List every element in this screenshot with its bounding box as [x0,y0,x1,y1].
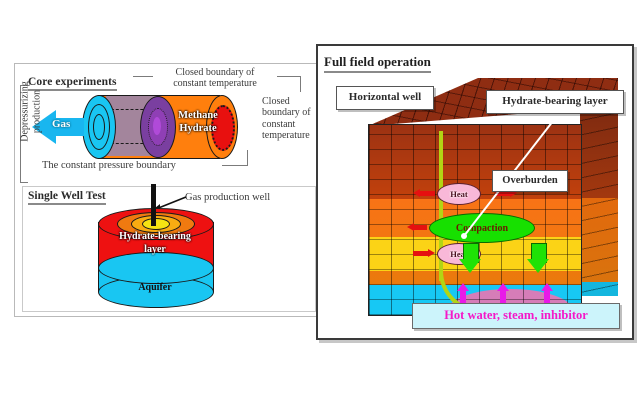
injection-up-arrow-2 [497,283,509,303]
hydrate-bearing-layer-label: Hydrate-bearing layer [108,230,202,256]
compaction-arrow-left [407,223,427,231]
gas-production-well-rod [151,184,156,226]
injection-up-arrow-3 [541,283,553,303]
hydrate-bearing-layer-label-box: Hydrate-bearing layer [486,90,624,114]
leader-line-top-right [277,76,301,77]
closed-boundary-top-caption: Closed boundary of constant temperature [156,67,274,89]
cylinder-left-cap-ring3 [93,114,105,140]
heat-ellipse-upper: Heat [437,183,481,205]
cylinder-purple-core [153,117,161,135]
block-front-face: Heat Heat Compaction [368,124,582,316]
compaction-down-arrow-left [459,243,481,273]
heat-arrow-left-lower [413,249,435,257]
depressurizing-production-label: Depressurizing production [20,69,43,155]
compaction-down-arrow-right [527,243,549,273]
block-side-face [580,106,618,296]
overburden-label-box: Overburden [492,170,568,192]
methane-label-line1: Methane [166,109,230,122]
leader-line-bottom [222,165,248,166]
hydrate-disc-bottom [98,252,214,284]
leader-line-top-left [133,76,153,77]
compaction-ellipse: Compaction [429,213,535,243]
injection-up-arrow-1 [457,283,469,303]
hydrate-disc-ring-yellow [142,218,170,230]
methane-label-line2: Hydrate [166,122,230,135]
hydrate-layer-line2: layer [108,243,202,256]
aquifer-label: Aquifer [108,282,202,293]
horizontal-well-label-box: Horizontal well [336,86,434,110]
gas-arrow-label: Gas [52,118,70,130]
single-well-test-figure: Hydrate-bearing layer Aquifer [90,200,220,308]
side-face-grid [580,106,618,296]
core-sample-cylinder: Methane Hydrate [80,95,230,157]
hydrate-layer-line1: Hydrate-bearing [108,230,202,243]
hot-water-steam-inhibitor-label-box: Hot water, steam, inhibitor [412,303,620,329]
closed-boundary-top-line1: Closed boundary of [156,67,274,78]
constant-pressure-boundary-caption: The constant pressure boundary [42,160,176,171]
methane-hydrate-label: Methane Hydrate [166,109,230,135]
closed-boundary-top-line2: constant temperature [156,78,274,89]
closed-boundary-right-caption: Closed boundary of constant temperature [262,96,320,142]
leader-line-top-down [300,76,301,92]
leader-line-bottom-up [247,150,248,166]
full-field-operation-title: Full field operation [324,54,431,73]
heat-arrow-left-upper [413,189,435,197]
